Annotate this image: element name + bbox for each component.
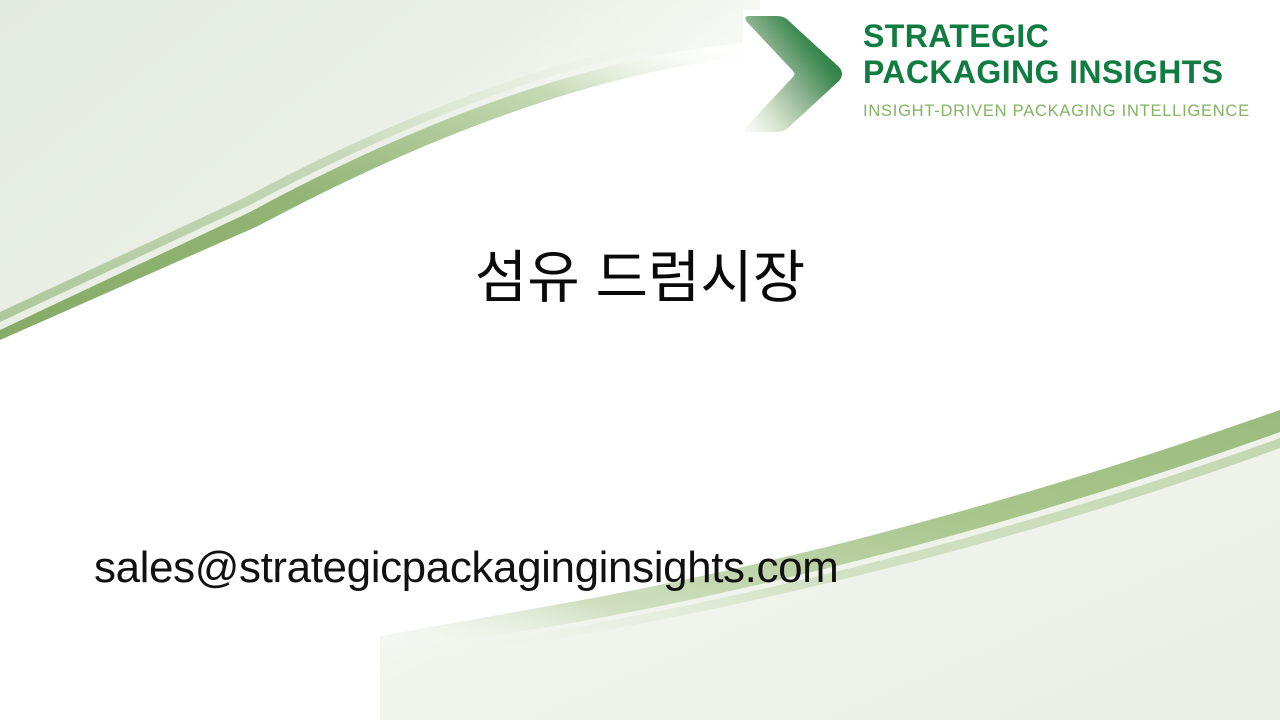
contact-email: sales@strategicpackaginginsights.com — [94, 543, 838, 593]
brand-logo-wordmark: STRATEGIC PACKAGING INSIGHTS INSIGHT-DRI… — [863, 10, 1250, 121]
brand-tagline: INSIGHT-DRIVEN PACKAGING INTELLIGENCE — [863, 102, 1250, 121]
brand-logo: STRATEGIC PACKAGING INSIGHTS INSIGHT-DRI… — [743, 10, 1263, 138]
brand-name-line-1: STRATEGIC — [863, 20, 1250, 52]
page-title: 섬유 드럼시장 — [0, 246, 1280, 312]
chevron-arrow-icon — [743, 12, 847, 136]
brand-name-line-2: PACKAGING INSIGHTS — [863, 56, 1250, 88]
presentation-slide: STRATEGIC PACKAGING INSIGHTS INSIGHT-DRI… — [0, 0, 1280, 720]
